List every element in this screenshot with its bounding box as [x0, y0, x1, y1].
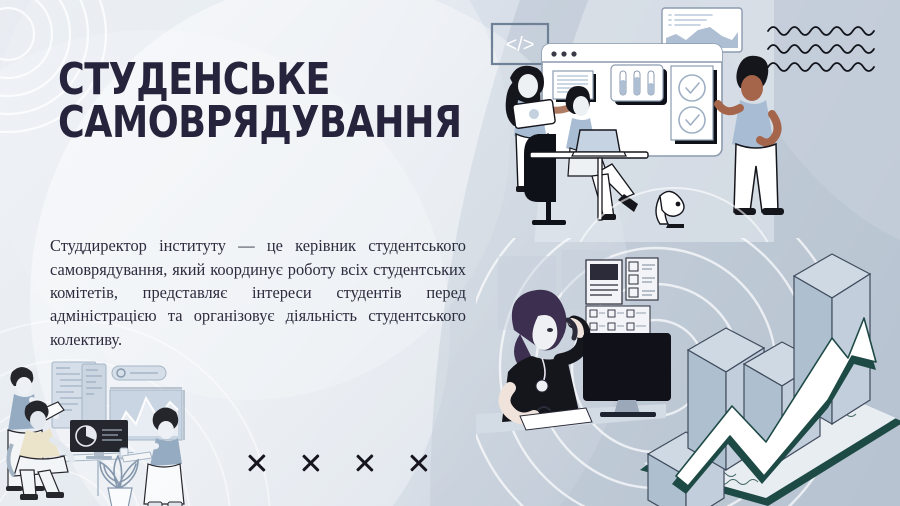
title-line-2: САМОВРЯДУВАННЯ [58, 101, 444, 144]
x-mark-icon [246, 452, 268, 474]
side-screen [82, 364, 106, 422]
growth-chart-illustration [476, 238, 900, 506]
slide-title: СТУДЕНСЬКЕ САМОВРЯДУВАННЯ [58, 58, 478, 144]
isometric-bar-chart [640, 254, 900, 506]
code-badge-label: </> [506, 34, 535, 56]
checklist-board [586, 306, 650, 336]
search-bar [112, 366, 166, 380]
office-analytics-illustration [0, 352, 220, 506]
wavy-lines-decoration [766, 22, 894, 78]
woman-on-phone [502, 290, 592, 430]
slider-panel [611, 65, 667, 105]
browser-dots [551, 51, 576, 56]
x-mark-icon [408, 452, 430, 474]
x-mark-icon [300, 452, 322, 474]
code-badge-icon: </> [492, 24, 548, 64]
checklist-board-small [626, 258, 658, 300]
body-paragraph: Студдиректор інституту — це керівник сту… [50, 234, 466, 350]
presentation-slide: </> [0, 0, 900, 506]
document-card [586, 260, 622, 304]
title-line-1: СТУДЕНСЬКЕ [58, 58, 444, 101]
x-mark-icon [354, 452, 376, 474]
decorative-x-marks [246, 452, 430, 474]
checklist-card [671, 66, 717, 144]
